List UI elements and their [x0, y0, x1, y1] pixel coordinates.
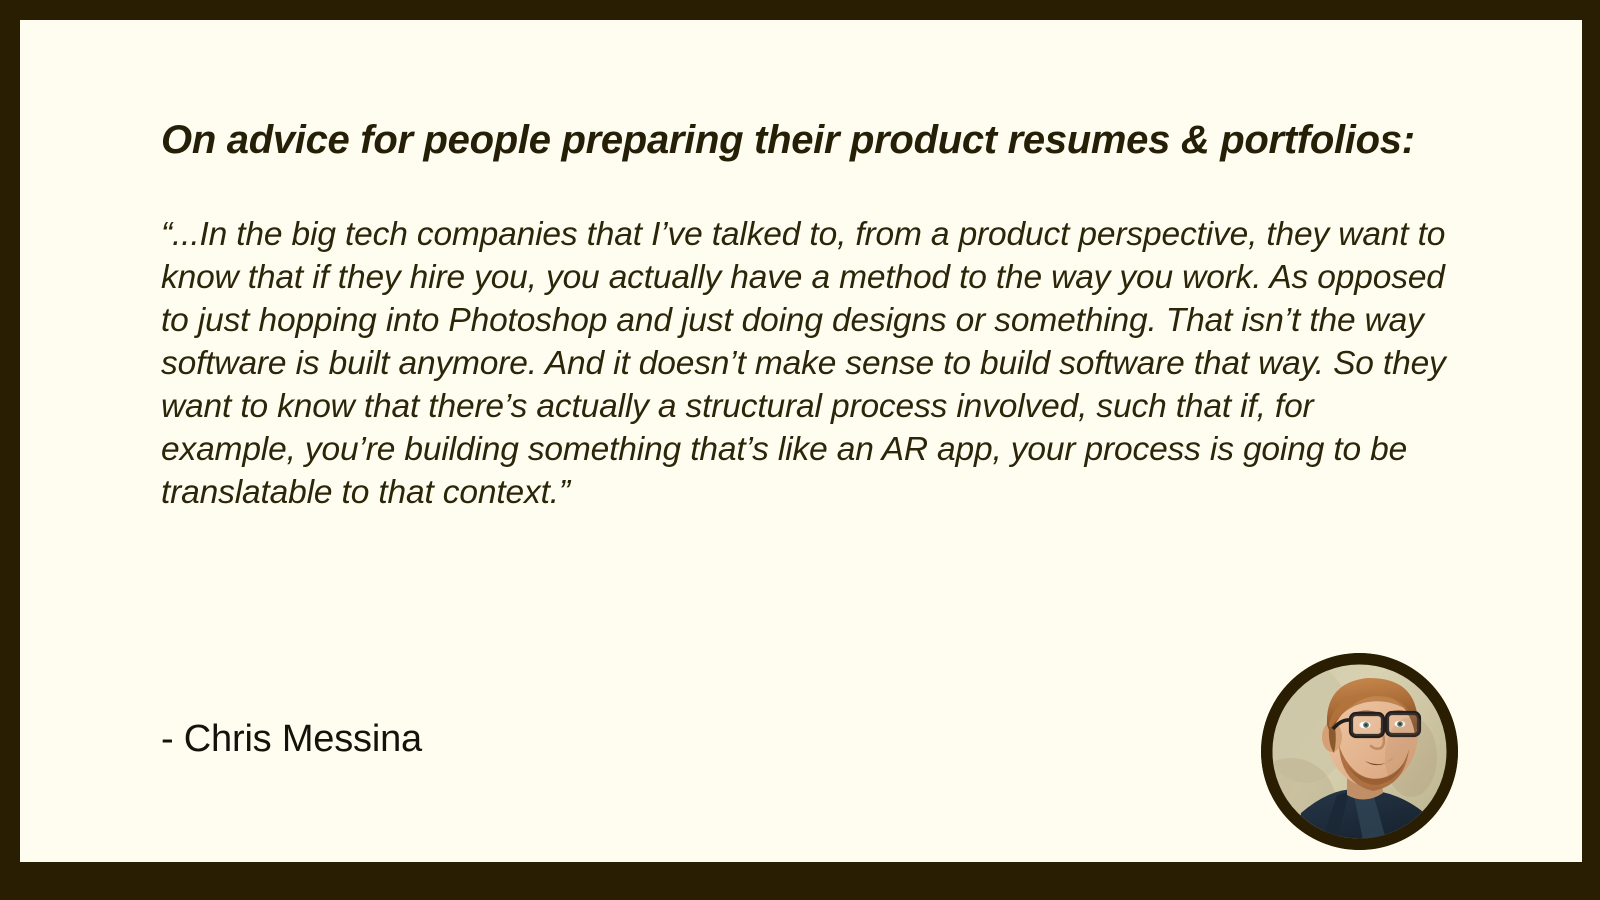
avatar-portrait-image: [1261, 653, 1458, 850]
quote-heading: On advice for people preparing their pro…: [161, 114, 1441, 167]
avatar: [1261, 653, 1458, 850]
quote-attribution: - Chris Messina: [161, 717, 422, 763]
quote-content: On advice for people preparing their pro…: [161, 114, 1451, 515]
slide-frame: On advice for people preparing their pro…: [0, 0, 1600, 900]
slide-card: On advice for people preparing their pro…: [20, 20, 1582, 862]
quote-body: “...In the big tech companies that I’ve …: [161, 213, 1453, 514]
